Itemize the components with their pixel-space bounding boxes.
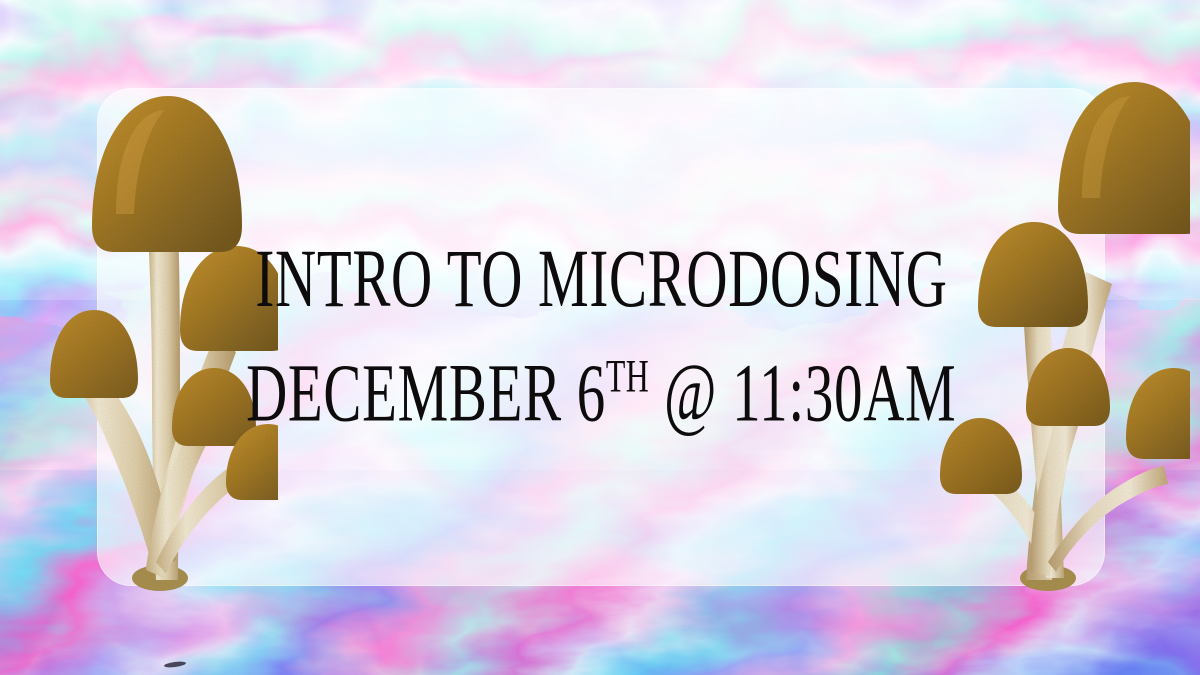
- poster-text-block: INTRO TO MICRODOSING DECEMBER 6TH @ 11:3…: [97, 88, 1105, 586]
- date-ordinal-suffix: TH: [606, 350, 649, 402]
- date-separator: @: [649, 347, 732, 439]
- poster-canvas: INTRO TO MICRODOSING DECEMBER 6TH @ 11:3…: [0, 0, 1200, 675]
- poster-date-time: DECEMBER 6TH @ 11:30AM: [246, 353, 956, 434]
- event-time: 11:30AM: [732, 347, 956, 439]
- poster-title: INTRO TO MICRODOSING: [255, 240, 947, 320]
- date-month-day: DECEMBER 6: [246, 347, 606, 439]
